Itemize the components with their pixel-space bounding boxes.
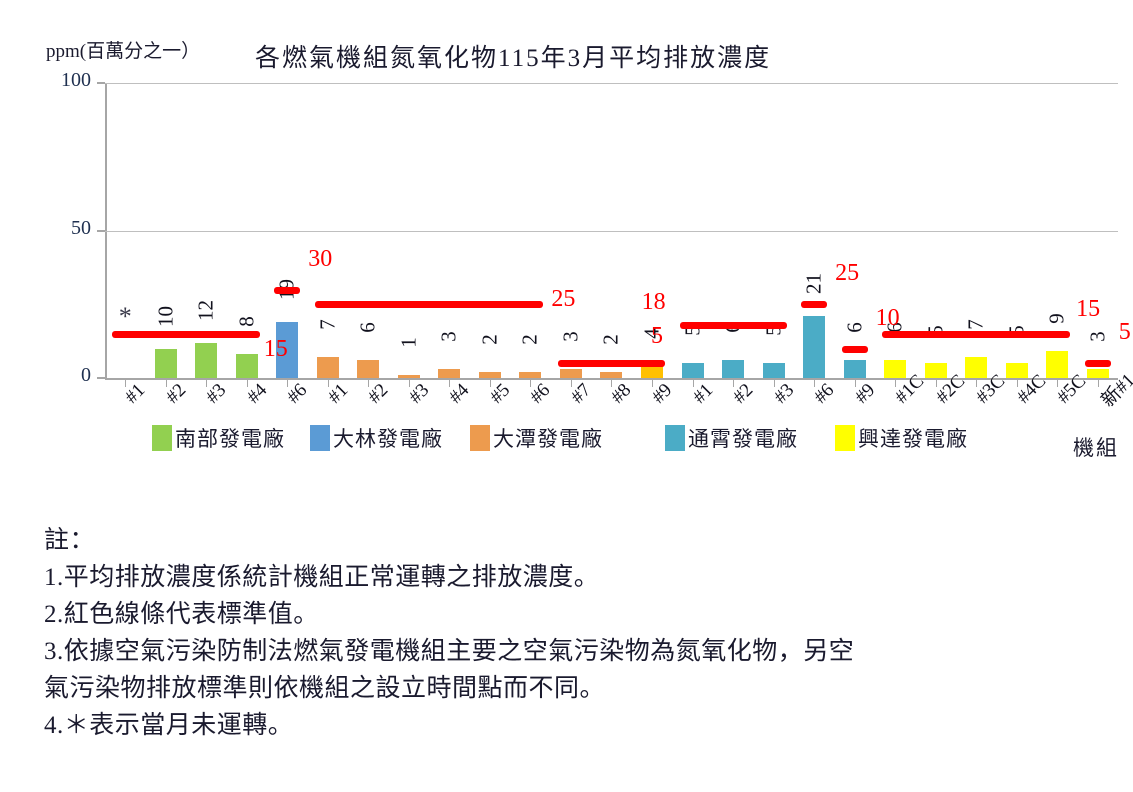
standard-value-line xyxy=(558,360,665,367)
bar[interactable] xyxy=(236,354,258,378)
standard-value-label: 15 xyxy=(1076,296,1100,323)
bar-value-label: 7 xyxy=(315,320,340,331)
bar[interactable] xyxy=(641,366,663,378)
y-tick-mark-50 xyxy=(97,230,105,232)
x-tick-mark xyxy=(652,378,653,387)
y-tick-mark-0 xyxy=(97,377,105,379)
bar[interactable] xyxy=(1046,351,1068,378)
standard-value-line xyxy=(1085,360,1111,367)
y-tick-label-50: 50 xyxy=(31,217,91,240)
x-tick-mark xyxy=(368,378,369,387)
bar-value-label: 7 xyxy=(964,320,989,331)
y-tick-label-100: 100 xyxy=(31,69,91,92)
bar-slot: 3#4 xyxy=(429,83,470,378)
standard-value-line xyxy=(112,331,259,338)
legend-color-swatch xyxy=(152,425,172,451)
standard-value-label: 15 xyxy=(264,336,288,363)
legend-item[interactable]: 通霄發電廠 xyxy=(665,423,798,453)
no-operation-marker: * xyxy=(119,302,132,332)
x-tick-mark xyxy=(328,378,329,387)
legend-color-swatch xyxy=(470,425,490,451)
bar-value-label: 1 xyxy=(396,337,421,348)
bar[interactable] xyxy=(803,316,825,378)
y-tick-label-0: 0 xyxy=(31,364,91,387)
legend-label: 大潭發電廠 xyxy=(493,423,603,453)
x-tick-mark xyxy=(1057,378,1058,387)
standard-value-line xyxy=(882,331,1070,338)
notes-heading: 註： xyxy=(44,522,1084,559)
legend-color-swatch xyxy=(835,425,855,451)
bar-value-label: 2 xyxy=(518,334,543,345)
standard-value-label: 10 xyxy=(876,305,900,332)
x-tick-mark xyxy=(206,378,207,387)
x-tick-mark xyxy=(490,378,491,387)
x-tick-mark xyxy=(247,378,248,387)
note-line: 2.紅色線條代表標準值。 xyxy=(44,596,1084,633)
bar[interactable] xyxy=(317,357,339,378)
legend-label: 興達發電廠 xyxy=(858,423,968,453)
x-tick-mark xyxy=(733,378,734,387)
legend-label: 通霄發電廠 xyxy=(688,423,798,453)
bar-slot: 5#3 xyxy=(753,83,794,378)
bar-value-label: 2 xyxy=(599,334,624,345)
bar[interactable] xyxy=(155,349,177,379)
bar-slot: 7#1 xyxy=(308,83,349,378)
legend-color-swatch xyxy=(665,425,685,451)
bar[interactable] xyxy=(722,360,744,378)
bar-slot: 3新#1 xyxy=(1077,83,1118,378)
legend-item[interactable]: 南部發電廠 xyxy=(152,423,285,453)
standard-value-label: 18 xyxy=(642,289,666,316)
chart-area: ppm(百萬分之一） 各燃氣機組氮氧化物115年3月平均排放濃度 050100 … xyxy=(0,0,1133,470)
bar[interactable] xyxy=(438,369,460,378)
standard-value-line xyxy=(680,322,787,329)
y-tick-mark-100 xyxy=(97,82,105,84)
x-tick-mark xyxy=(287,378,288,387)
x-tick-mark xyxy=(976,378,977,387)
bar[interactable] xyxy=(195,343,217,378)
standard-value-line xyxy=(274,287,300,294)
legend-item[interactable]: 興達發電廠 xyxy=(835,423,968,453)
standard-value-line xyxy=(801,301,827,308)
legend-label: 大林發電廠 xyxy=(333,423,443,453)
bar[interactable] xyxy=(884,360,906,378)
standard-value-label: 5 xyxy=(1119,319,1131,346)
x-tick-mark xyxy=(409,378,410,387)
note-line: 1.平均排放濃度係統計機組正常運轉之排放濃度。 xyxy=(44,559,1084,596)
bar-value-label: 8 xyxy=(234,317,259,328)
bar-slot: 19#6 xyxy=(267,83,308,378)
bar-value-label: 21 xyxy=(802,273,827,294)
bar-slot: 2#8 xyxy=(591,83,632,378)
standard-value-label: 25 xyxy=(551,286,575,313)
bar-slot: 6#2 xyxy=(348,83,389,378)
x-tick-mark xyxy=(530,378,531,387)
note-line: 4.＊表示當月未運轉。 xyxy=(44,707,1084,744)
x-tick-mark xyxy=(936,378,937,387)
bar[interactable] xyxy=(682,363,704,378)
legend-item[interactable]: 大林發電廠 xyxy=(310,423,443,453)
bar-value-label: 3 xyxy=(437,331,462,342)
standard-value-line xyxy=(315,301,544,308)
bar[interactable] xyxy=(844,360,866,378)
legend-label: 南部發電廠 xyxy=(175,423,285,453)
bar-value-label: 9 xyxy=(1045,314,1070,325)
bar[interactable] xyxy=(965,357,987,378)
x-tick-mark xyxy=(166,378,167,387)
x-tick-mark xyxy=(1017,378,1018,387)
bar-value-label: 12 xyxy=(194,300,219,321)
bar-value-label: 10 xyxy=(153,306,178,327)
bar-value-label: 6 xyxy=(356,323,381,334)
legend-color-swatch xyxy=(310,425,330,451)
x-tick-mark xyxy=(449,378,450,387)
standard-value-label: 5 xyxy=(651,323,663,350)
x-tick-mark xyxy=(125,378,126,387)
x-axis-title: 機組 xyxy=(1073,432,1119,462)
bar[interactable] xyxy=(357,360,379,378)
y-axis-unit-label: ppm(百萬分之一） xyxy=(46,36,200,63)
x-tick-mark xyxy=(895,378,896,387)
legend: 南部發電廠大林發電廠大潭發電廠通霄發電廠興達發電廠 xyxy=(0,423,1133,455)
chart-title: 各燃氣機組氮氧化物115年3月平均排放濃度 xyxy=(255,38,771,74)
bar-slot: 6#9 xyxy=(834,83,875,378)
bar[interactable] xyxy=(1087,369,1109,378)
standard-value-label: 25 xyxy=(835,260,859,287)
x-tick-mark xyxy=(693,378,694,387)
bar[interactable] xyxy=(925,363,947,378)
bar-slot: 2#6 xyxy=(510,83,551,378)
bar-slot: 5#1 xyxy=(672,83,713,378)
bar-slot: 3#7 xyxy=(551,83,592,378)
bar-slot: 6#2 xyxy=(713,83,754,378)
x-tick-mark xyxy=(611,378,612,387)
notes-block: 註：1.平均排放濃度係統計機組正常運轉之排放濃度。2.紅色線條代表標準值。3.依… xyxy=(44,522,1084,744)
plot-area: 050100 *#110#212#38#419#67#16#21#33#42#5… xyxy=(105,83,1118,378)
standard-value-line xyxy=(842,346,868,353)
note-line: 3.依據空氣污染防制法燃氣發電機組主要之空氣污染物為氮氧化物，另空 xyxy=(44,633,1084,670)
bar-slot: 1#3 xyxy=(389,83,430,378)
bar[interactable] xyxy=(560,369,582,378)
x-tick-mark xyxy=(774,378,775,387)
bar-value-label: 2 xyxy=(477,334,502,345)
bar[interactable] xyxy=(1006,363,1028,378)
bar-slot: 21#6 xyxy=(794,83,835,378)
note-line: 氣污染物排放標準則依機組之設立時間點而不同。 xyxy=(44,670,1084,707)
x-tick-mark xyxy=(571,378,572,387)
bar-value-label: 3 xyxy=(1085,331,1110,342)
bar-slot: 2#5 xyxy=(470,83,511,378)
bar[interactable] xyxy=(763,363,785,378)
x-tick-mark xyxy=(814,378,815,387)
bar-value-label: 6 xyxy=(842,323,867,334)
x-tick-mark xyxy=(855,378,856,387)
x-tick-mark xyxy=(1098,378,1099,387)
standard-value-label: 30 xyxy=(308,246,332,273)
legend-item[interactable]: 大潭發電廠 xyxy=(470,423,603,453)
bar-value-label: 3 xyxy=(558,331,583,342)
